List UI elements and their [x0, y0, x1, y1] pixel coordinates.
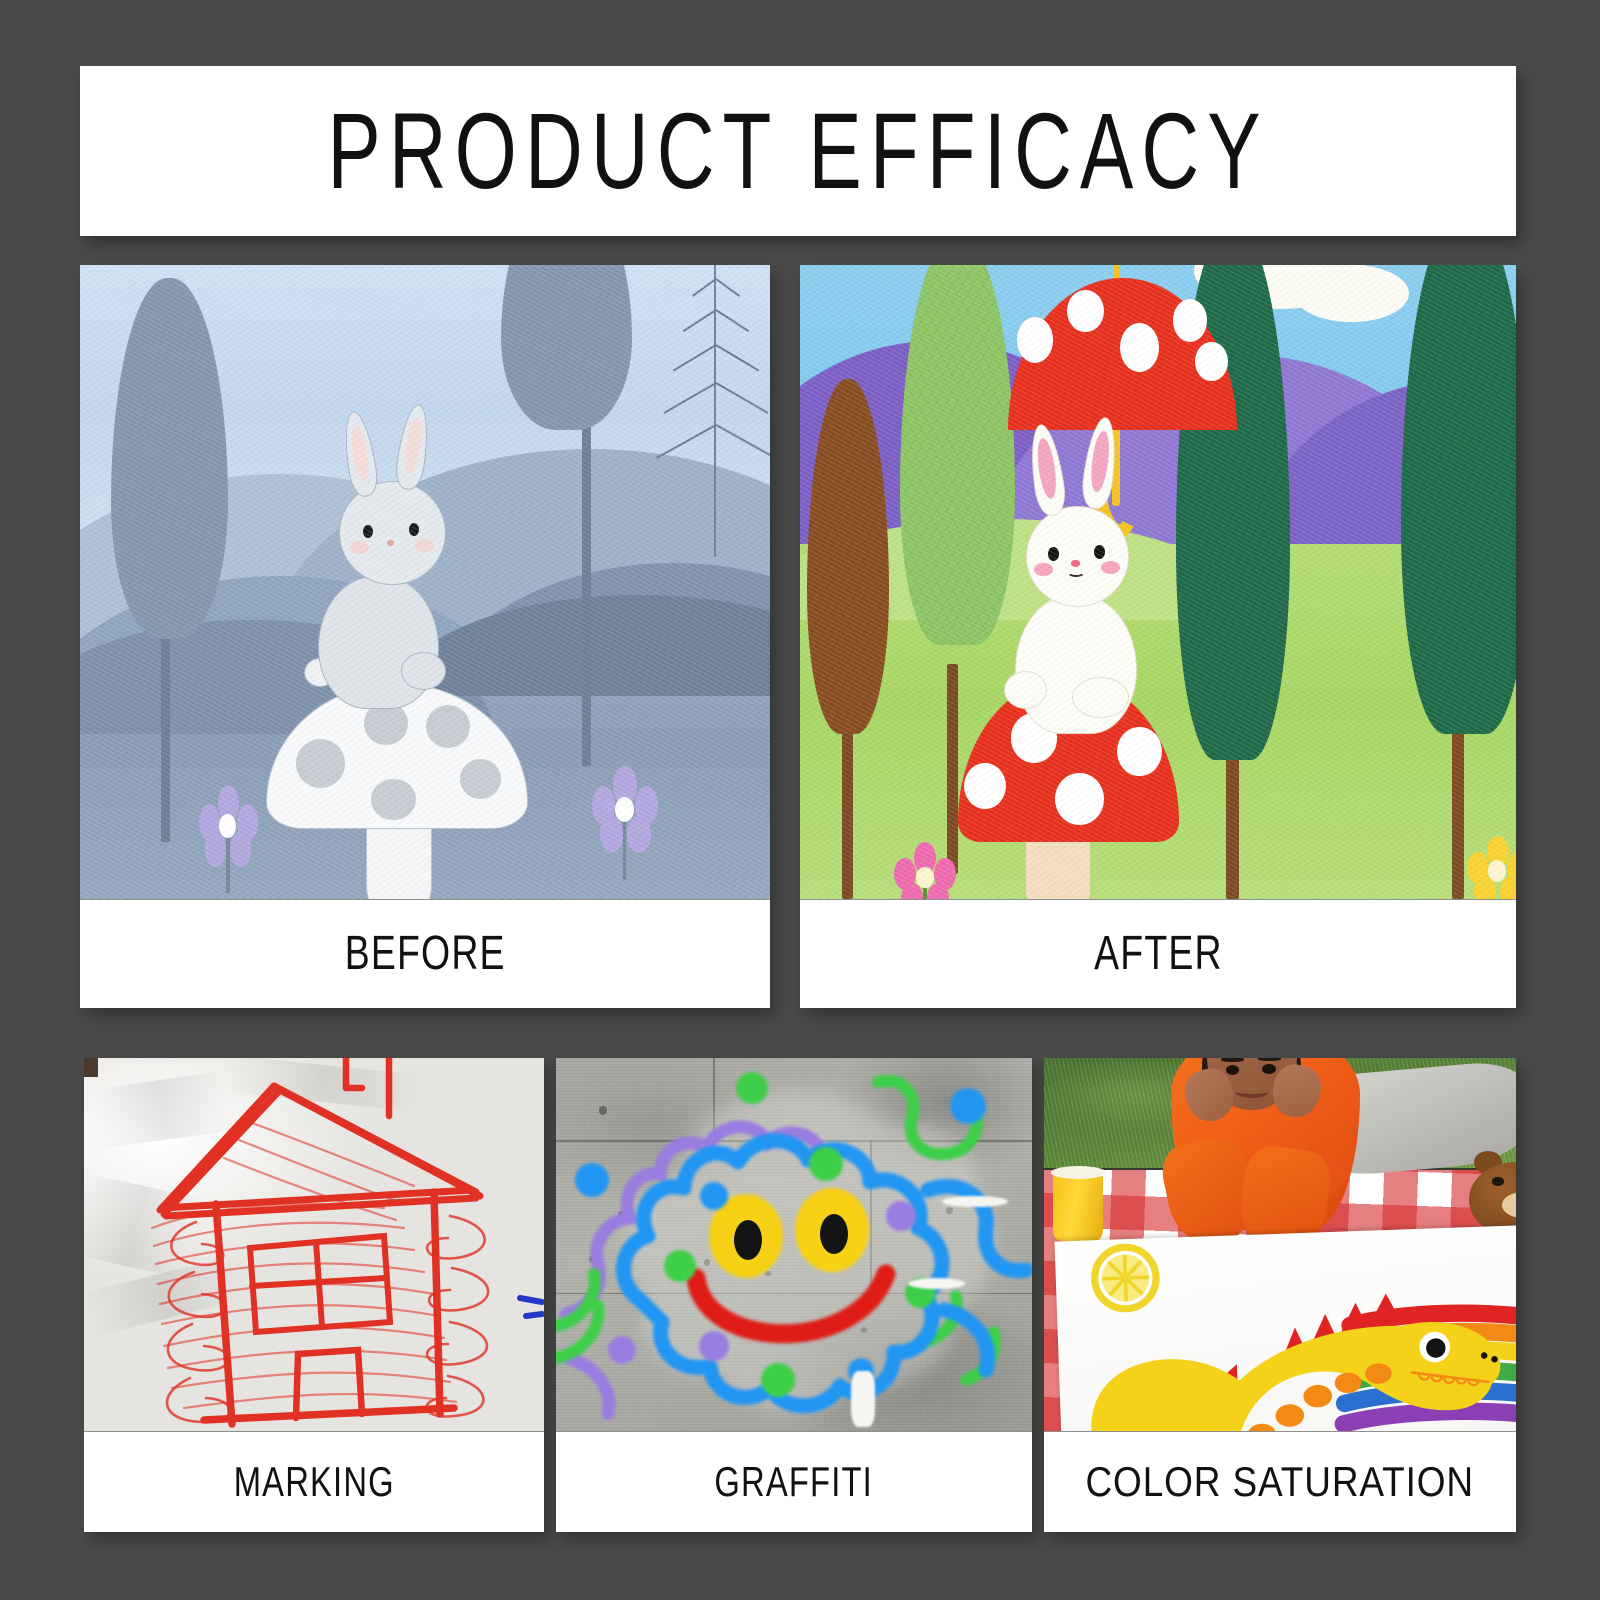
panel-marking[interactable]: MARKING [84, 1058, 544, 1532]
mushroom-spot [1117, 727, 1161, 776]
white-scuff [851, 1371, 875, 1427]
title-card: PRODUCT EFFICACY [80, 66, 1516, 236]
teddy-eye-left [1492, 1177, 1503, 1185]
dot-purple [699, 1331, 729, 1361]
flower-petal [1500, 876, 1516, 900]
flower-pink [893, 842, 957, 900]
pine-branch [692, 278, 716, 297]
yellow-cup [1053, 1170, 1103, 1241]
panel-after[interactable]: AFTER [800, 265, 1516, 1008]
cypress-crown-far-right [1401, 265, 1516, 734]
panel-before[interactable]: BEFORE [80, 265, 770, 1008]
graffiti-caption-label: GRAFFITI [715, 1461, 874, 1503]
bunny-cheek-right [1101, 561, 1120, 574]
before-image [80, 265, 770, 900]
panel-color-saturation[interactable]: COLOR SATURATION [1044, 1058, 1516, 1532]
cypress-trunk [1226, 747, 1239, 899]
dot-green [761, 1363, 795, 1397]
lemon-slice-drawing [1094, 1247, 1157, 1310]
spray-paint-svg [556, 1058, 1032, 1432]
panel-graffiti[interactable]: GRAFFITI [556, 1058, 1032, 1532]
flower-stalk [923, 888, 926, 900]
pine-branch [682, 310, 716, 333]
eyebrow-right [1258, 1058, 1281, 1061]
color-saturation-photo [1044, 1058, 1516, 1431]
umbrella-spot [1195, 342, 1227, 382]
mushroom-spot [426, 705, 470, 748]
dot-green [809, 1147, 843, 1181]
mushroom-spot [1055, 773, 1104, 826]
eye-left [1226, 1065, 1239, 1075]
marker-drawing-svg [84, 1058, 544, 1432]
crown-texture [900, 265, 1015, 645]
marking-caption-label: MARKING [233, 1461, 394, 1503]
flower-center [615, 797, 634, 822]
dot-green [664, 1250, 696, 1282]
poplar-crown [900, 265, 1015, 645]
brown-tree-trunk [842, 721, 853, 899]
umbrella-spot [1173, 299, 1207, 342]
marking-image [84, 1058, 544, 1432]
flower-petal [205, 832, 226, 866]
after-artwork [800, 265, 1516, 899]
bunny-eye-left [363, 525, 373, 538]
pine-branch [672, 344, 716, 371]
bunny-nose [387, 540, 394, 546]
color-saturation-image [1044, 1058, 1516, 1432]
dot-blue [700, 1182, 728, 1210]
bunny-head [1026, 506, 1130, 607]
product-efficacy-board: PRODUCT EFFICACY [0, 0, 1600, 1600]
cup-rim [1051, 1166, 1107, 1179]
cypress-trunk-far-right [1452, 721, 1465, 899]
page-title: PRODUCT EFFICACY [327, 97, 1268, 205]
pine-branch [715, 382, 768, 414]
bunny-eye-right [409, 523, 419, 536]
bunny-cheek-left [1034, 563, 1053, 576]
color-saturation-caption-label: COLOR SATURATION [1086, 1461, 1475, 1503]
dinosaur-drawing-svg [1055, 1225, 1516, 1432]
crown-texture [1401, 265, 1516, 734]
bunny-ear-inner-right [402, 418, 424, 475]
pine-tree [653, 265, 770, 557]
cloud [1294, 265, 1409, 322]
dot-blue [575, 1163, 609, 1197]
tree-crown-right [501, 265, 632, 430]
dot-purple [608, 1336, 636, 1364]
bunny-paw [401, 652, 446, 690]
pupil-right [820, 1214, 848, 1254]
child-smile [1235, 1084, 1269, 1098]
mushroom-spot [371, 779, 415, 819]
flower-petal [600, 816, 623, 853]
bunny-mouth [1067, 567, 1084, 577]
tree-trunk-left [161, 626, 170, 842]
graffiti-image [556, 1058, 1032, 1432]
marking-caption: MARKING [84, 1432, 544, 1532]
flower-petal [627, 816, 650, 853]
bunny-eye-right [1094, 545, 1105, 559]
stray-blue-mark [520, 1298, 542, 1316]
bunny-eye-left [1048, 547, 1059, 561]
dot-purple [886, 1201, 916, 1231]
before-caption: BEFORE [80, 900, 770, 1008]
flower-left [197, 785, 259, 893]
pine-branch [715, 424, 770, 459]
after-image [800, 265, 1516, 900]
dot-blue [950, 1088, 986, 1124]
flower-center [219, 814, 236, 838]
flower-center [916, 867, 934, 888]
graffiti-caption: GRAFFITI [556, 1432, 1032, 1532]
mushroom-spot [964, 763, 1006, 809]
bunny-cheek-right [415, 539, 434, 552]
tree-trunk-right [582, 411, 590, 766]
dot-green [736, 1072, 768, 1104]
flower-petal [230, 832, 251, 866]
umbrella-spot [1067, 290, 1104, 333]
graffiti-artwork [556, 1058, 1032, 1431]
eye-right [1262, 1064, 1275, 1074]
umbrella-spot [1120, 323, 1159, 372]
after-caption-label: AFTER [1094, 930, 1223, 978]
drawing-sheet [1055, 1225, 1516, 1432]
flower-right [591, 766, 660, 880]
marking-artwork [84, 1058, 544, 1431]
bunny-cheek-left [350, 541, 369, 554]
bunny-head [339, 481, 446, 586]
after-caption: AFTER [800, 900, 1516, 1008]
before-artwork [80, 265, 770, 899]
flower-yellow [1466, 836, 1516, 900]
umbrella-spot [1017, 317, 1054, 363]
pine-branch [715, 344, 759, 371]
bunny-nose [1071, 560, 1080, 567]
mushroom-spot [460, 759, 502, 799]
pine-branch [715, 310, 749, 333]
pupil-left [734, 1220, 762, 1260]
bunny-ear-inner-right [1089, 430, 1112, 493]
mushroom-spot [296, 739, 345, 788]
eyebrow-left [1221, 1058, 1244, 1062]
before-caption-label: BEFORE [345, 930, 506, 978]
pine-branch [715, 278, 739, 297]
bunny-ear-inner-left [1035, 436, 1059, 499]
color-saturation-caption: COLOR SATURATION [1044, 1432, 1516, 1532]
pine-branch [656, 424, 717, 459]
bunny-foot [1004, 671, 1047, 709]
pine-branch [663, 382, 716, 414]
